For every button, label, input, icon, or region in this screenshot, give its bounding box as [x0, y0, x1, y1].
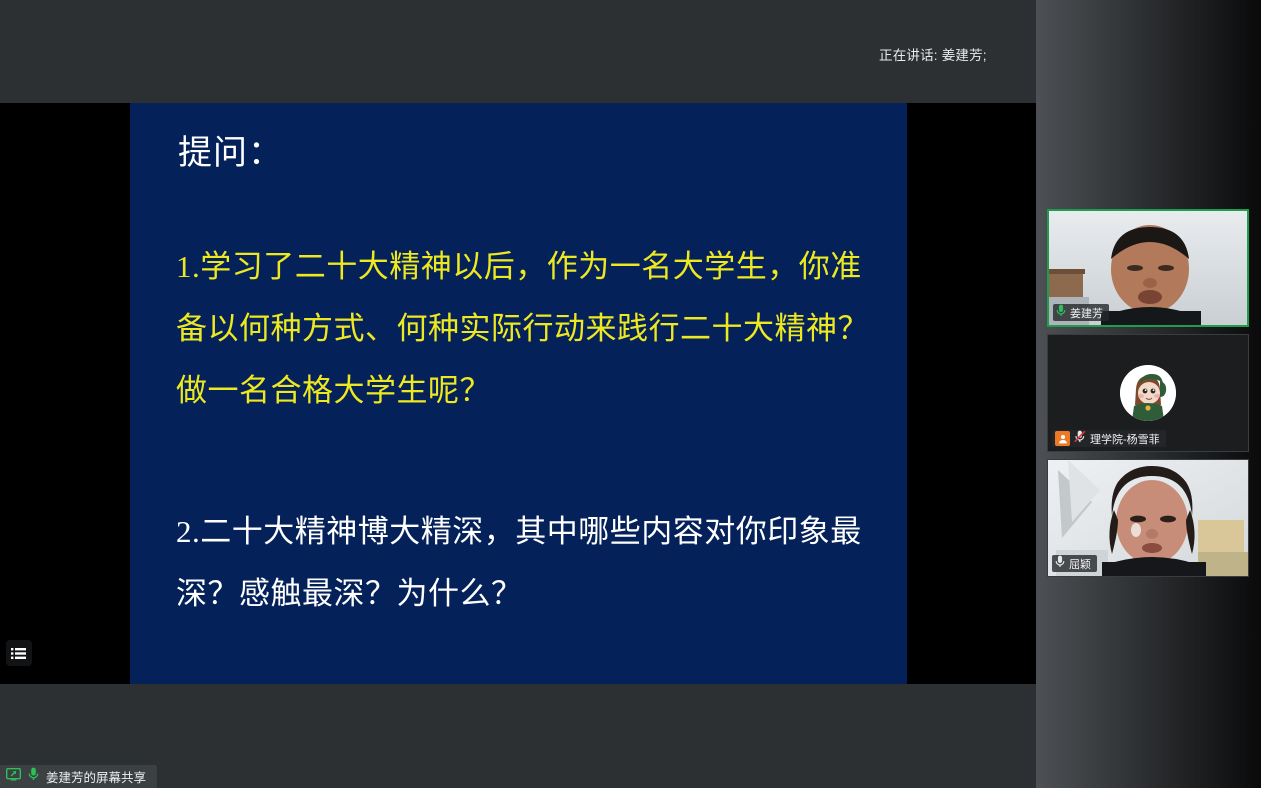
slide-question-2: 2.二十大精神博大精深，其中哪些内容对你印象最深？感触最深？为什么？	[176, 501, 876, 625]
participant-rail: 姜建芳	[1036, 0, 1261, 788]
microphone-icon	[1056, 304, 1066, 322]
participant-label: 屈颖	[1052, 555, 1097, 572]
participant-tile-jiangjianfang[interactable]: 姜建芳	[1047, 209, 1249, 327]
microphone-icon	[28, 767, 39, 786]
screen-share-status-bar[interactable]: 姜建芳的屏幕共享	[0, 765, 157, 788]
slide-title: 提问：	[178, 125, 283, 174]
participant-name: 屈颖	[1069, 556, 1091, 572]
participant-name: 理学院-杨雪菲	[1090, 431, 1160, 447]
shared-screen-stage[interactable]: 提问： 1.学习了二十大精神以后，作为一名大学生，你准备以何种方式、何种实际行动…	[0, 103, 1036, 684]
participant-label: 理学院-杨雪菲	[1052, 430, 1166, 447]
participant-tile-quying[interactable]: 屈颖	[1047, 459, 1249, 577]
screen-share-status-text: 姜建芳的屏幕共享	[46, 767, 146, 786]
active-speaker-label: 正在讲话: 姜建芳;	[879, 44, 987, 64]
participant-name: 姜建芳	[1070, 305, 1103, 321]
presentation-slide: 提问： 1.学习了二十大精神以后，作为一名大学生，你准备以何种方式、何种实际行动…	[130, 103, 907, 684]
microphone-icon	[1055, 555, 1065, 573]
screen-share-icon	[6, 768, 21, 786]
host-person-icon	[1055, 431, 1070, 446]
participant-tile-yangxuefei[interactable]: 理学院-杨雪菲	[1047, 334, 1249, 452]
participant-label: 姜建芳	[1053, 304, 1109, 321]
slide-question-1: 1.学习了二十大精神以后，作为一名大学生，你准备以何种方式、何种实际行动来践行二…	[176, 236, 876, 422]
avatar	[1120, 365, 1176, 421]
microphone-muted-icon	[1074, 430, 1086, 448]
top-speaking-bar: 正在讲话: 姜建芳;	[0, 0, 1036, 103]
list-view-icon[interactable]	[6, 640, 32, 666]
